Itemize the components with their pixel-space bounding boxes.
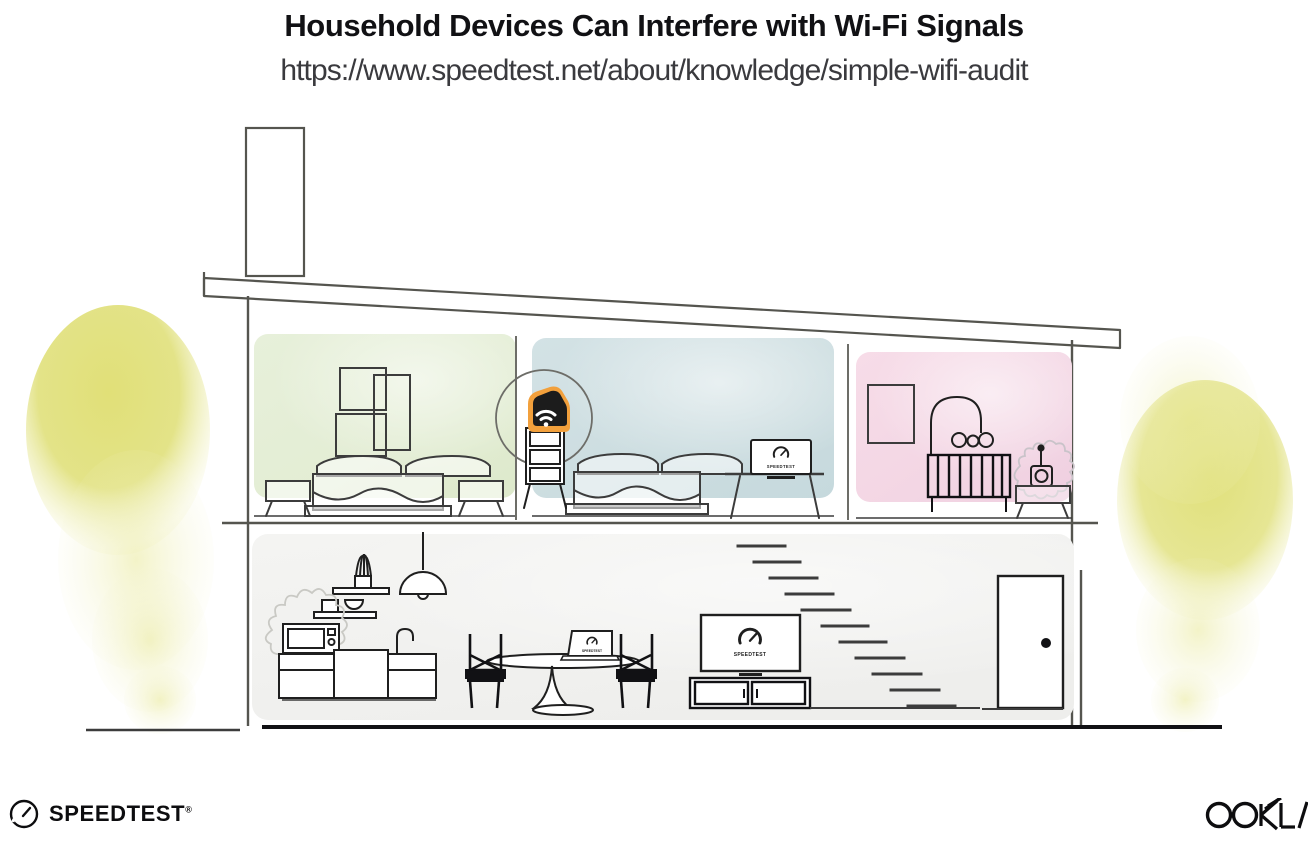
monitor-screen-label: SPEEDTEST: [767, 464, 796, 469]
speedtest-logo: SPEEDTEST®: [8, 798, 192, 830]
laptop-screen-label: SPEEDTEST: [582, 649, 603, 653]
nightstand-left: [266, 481, 310, 516]
kitchen-counter: [279, 650, 436, 698]
room-bedroom-green: [254, 334, 516, 520]
foliage-right: [1117, 336, 1293, 732]
illustration-canvas: Household Devices Can Interfere with Wi-…: [0, 0, 1308, 861]
room-nursery-pink: [856, 352, 1074, 518]
room-ground-floor: SPEEDTEST: [252, 532, 1074, 720]
tv-screen-label: SPEEDTEST: [734, 652, 766, 658]
speedtest-trademark: ®: [185, 805, 192, 815]
tv-stand: [690, 678, 810, 708]
speedtest-gauge-icon-footer: [8, 798, 40, 830]
chimney: [246, 128, 304, 276]
speedtest-wordmark-text: SPEEDTEST: [49, 801, 185, 826]
door-knob-icon[interactable]: [1041, 638, 1051, 648]
monitor-speedtest: SPEEDTEST: [751, 440, 811, 479]
tv-speedtest: SPEEDTEST: [701, 615, 800, 676]
page-title: Household Devices Can Interfere with Wi-…: [0, 8, 1308, 44]
ookla-wordmark: [1203, 798, 1308, 832]
speedtest-wordmark: SPEEDTEST®: [49, 801, 192, 827]
nightstand-pink: [1016, 486, 1070, 518]
room-bedroom-blue: SPEEDTEST: [532, 338, 848, 520]
page-subtitle-url: https://www.speedtest.net/about/knowledg…: [0, 54, 1308, 88]
foliage-left: [26, 305, 214, 734]
house-cutaway-diagram: SPEEDTEST: [0, 0, 1308, 861]
ookla-logo: OOKLA: [1203, 798, 1308, 832]
microwave: [283, 624, 339, 653]
nightstand-right: [459, 481, 503, 516]
front-door[interactable]: [998, 576, 1063, 708]
